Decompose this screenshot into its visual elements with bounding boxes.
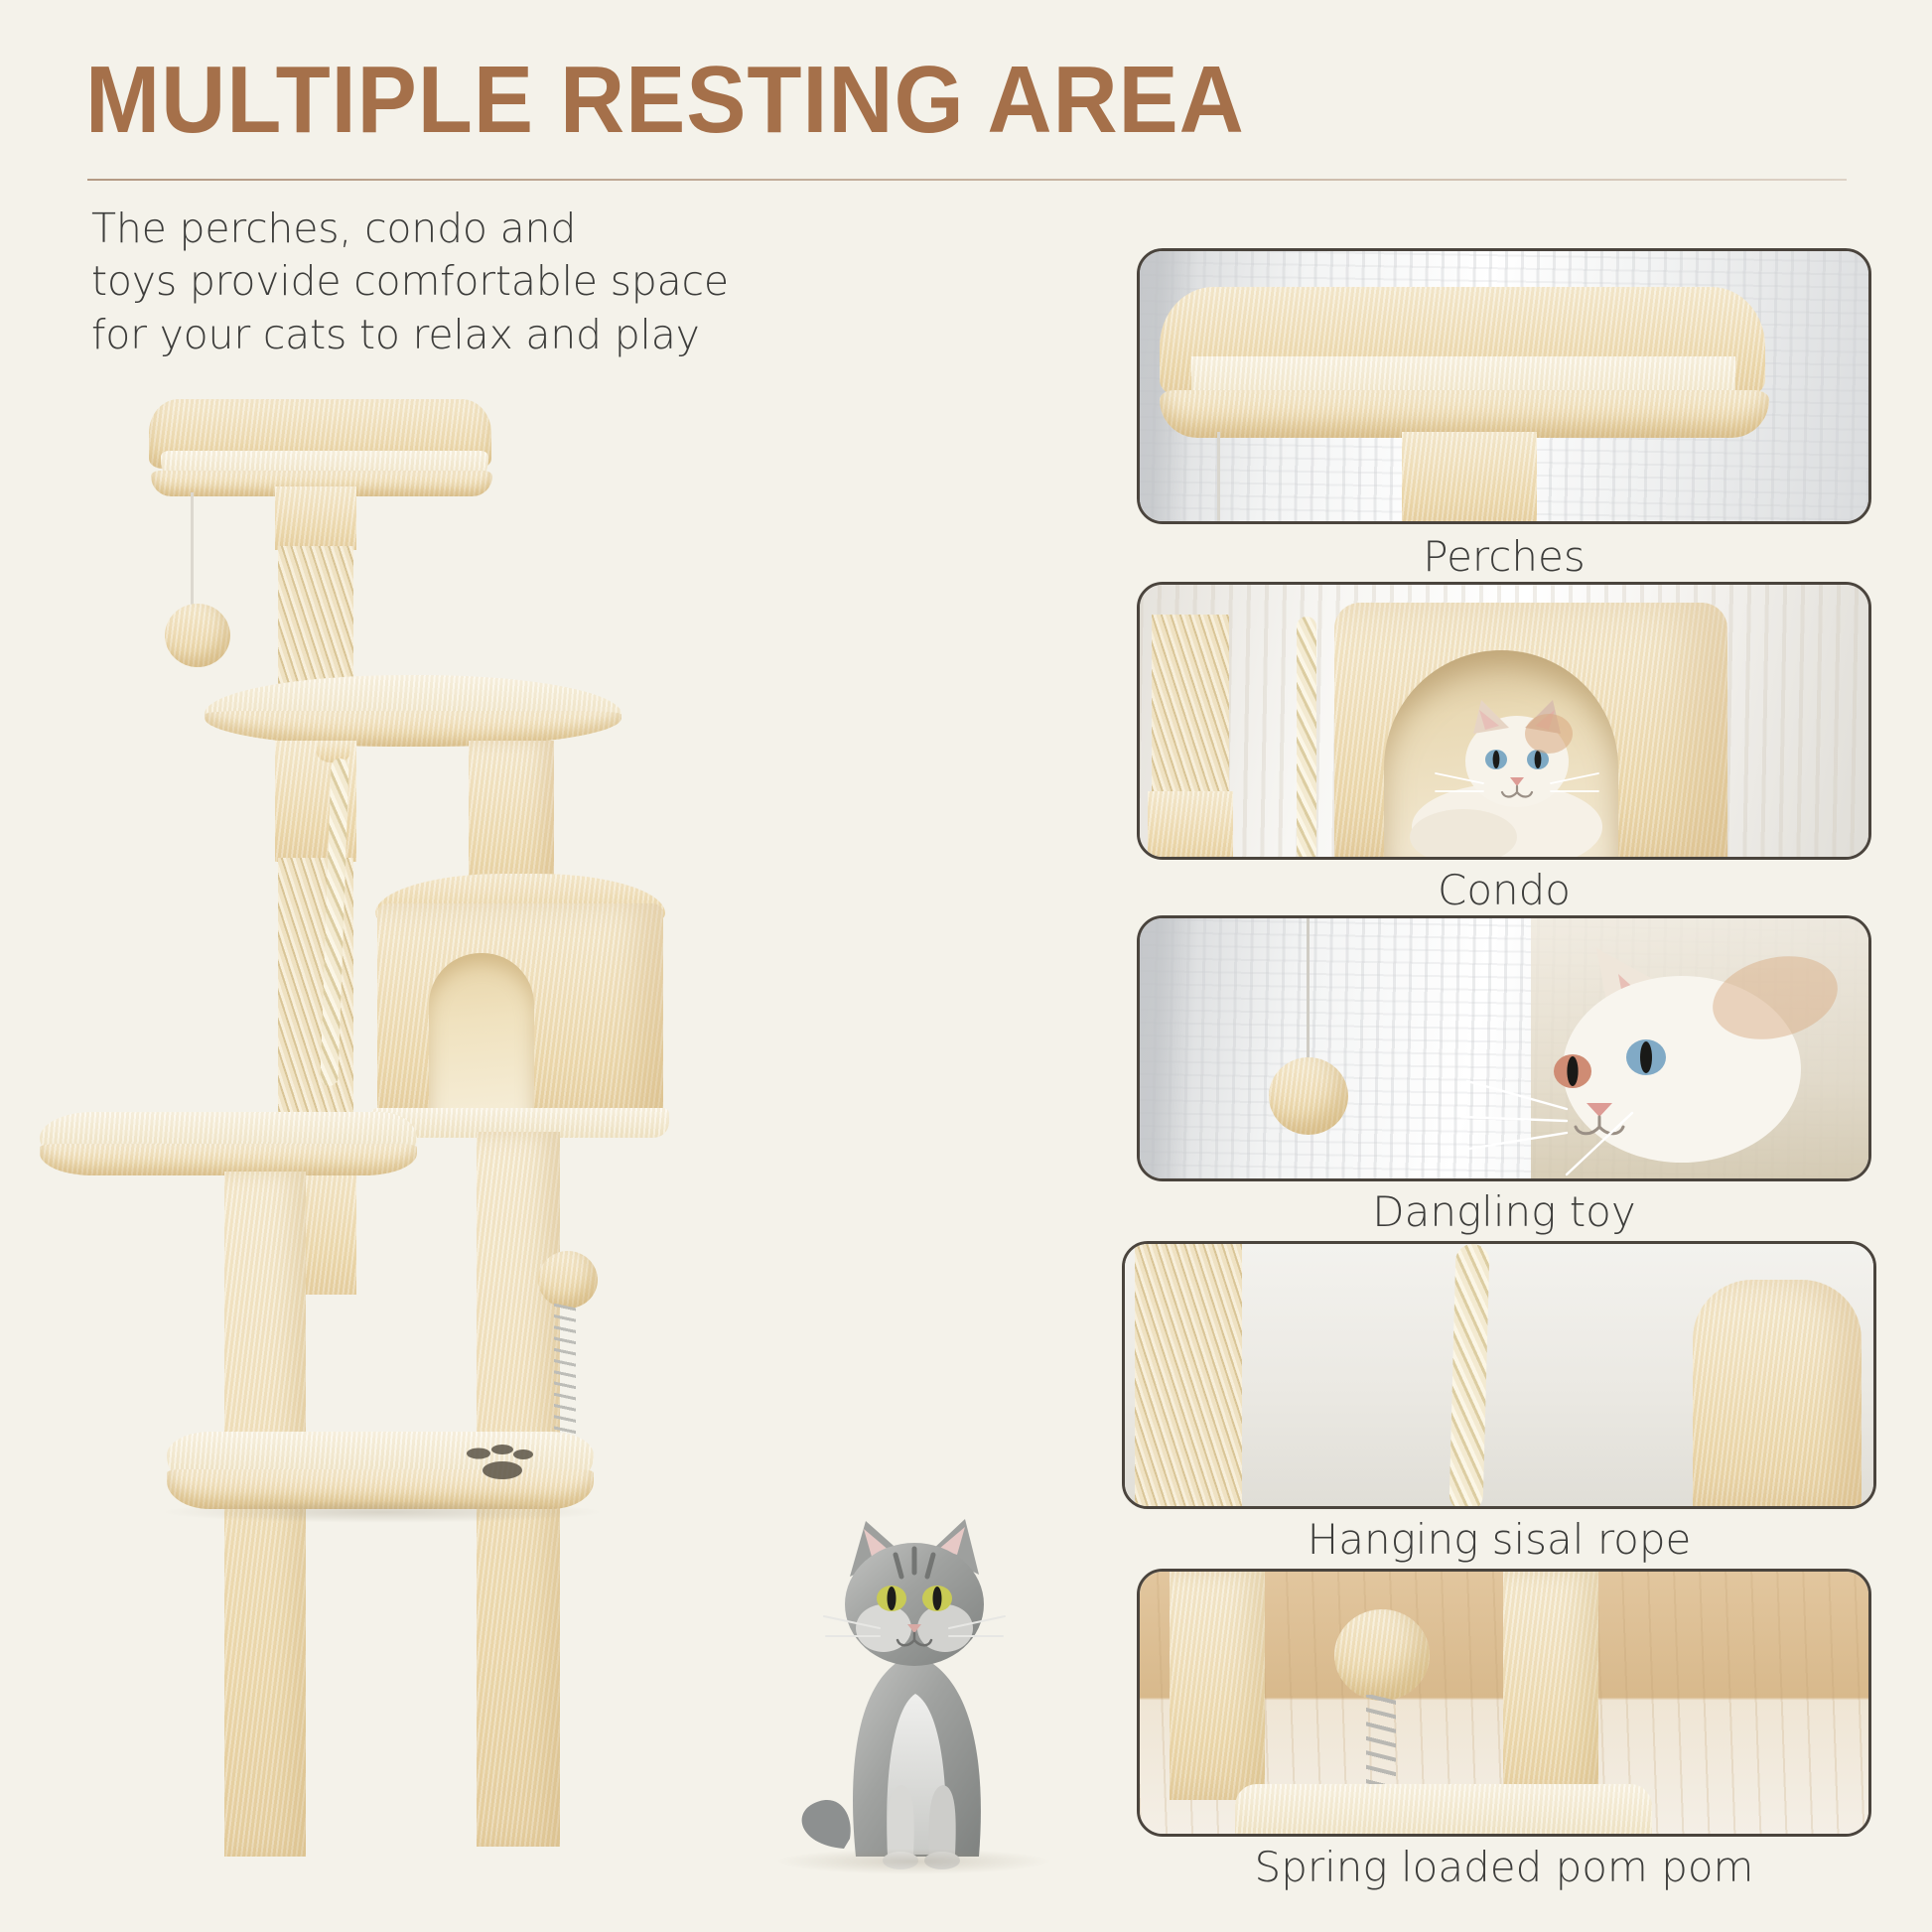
spring-panel-base-board — [1235, 1784, 1652, 1837]
dangling-pom-pom — [165, 604, 230, 667]
caption-condo: Condo — [1137, 866, 1871, 914]
spring-pom-pom — [538, 1251, 598, 1309]
perch-support-post-closeup — [1402, 432, 1537, 524]
page-title: MULTIPLE RESTING AREA — [85, 46, 1245, 155]
condo-entrance-hole — [429, 953, 534, 1124]
hanging-sisal-rope-closeup — [1449, 1244, 1489, 1509]
sisal-post-left — [1135, 1244, 1242, 1509]
paw-print-logo — [453, 1440, 542, 1487]
condo-left-post-plush — [1148, 791, 1233, 860]
cat-tree-product-photo — [40, 377, 774, 1896]
condo-left-sisal-post — [1152, 615, 1229, 803]
description-line-3: for your cats to relax and play — [91, 309, 925, 361]
feature-panel-spring-pom-pom — [1137, 1569, 1871, 1837]
plush-post-right — [1693, 1280, 1862, 1509]
product-floor-shadow — [159, 1501, 606, 1523]
spring-panel-left-post — [1170, 1572, 1265, 1800]
caption-perches: Perches — [1137, 532, 1871, 581]
perch-front-edge-closeup — [1160, 390, 1769, 438]
spring-coil — [554, 1303, 576, 1451]
dangling-toy-string — [191, 492, 194, 610]
rope-anchor-cap — [316, 741, 351, 762]
caption-hanging-sisal-rope: Hanging sisal rope — [1122, 1515, 1876, 1564]
feature-panel-perches — [1137, 248, 1871, 524]
feature-panel-hanging-sisal-rope — [1122, 1241, 1876, 1509]
dangling-toy-cat — [1448, 932, 1864, 1181]
perch-toy-string — [1217, 432, 1220, 524]
feature-panel-condo — [1137, 582, 1871, 860]
condo-cat — [1400, 688, 1610, 860]
top-post-plush-upper — [275, 486, 356, 550]
caption-dangling-toy: Dangling toy — [1137, 1187, 1871, 1236]
feature-panel-dangling-toy — [1137, 915, 1871, 1181]
page-description: The perches, condo and toys provide comf… — [91, 203, 925, 361]
middle-platform-edge — [205, 711, 621, 747]
top-post-sisal — [278, 546, 353, 695]
infographic-page: MULTIPLE RESTING AREA The perches, condo… — [0, 0, 1932, 1932]
grey-tabby-cat — [784, 1459, 1042, 1896]
spring-panel-right-post — [1503, 1572, 1598, 1800]
caption-spring-pom-pom: Spring loaded pom pom — [1137, 1843, 1871, 1891]
spring-pom-pom-closeup — [1334, 1609, 1430, 1701]
cat-floor-shadow — [774, 1849, 1052, 1874]
dangling-toy-string-closeup — [1307, 918, 1310, 1067]
dangling-pom-pom-closeup — [1269, 1057, 1348, 1135]
condo-hanging-rope — [1297, 617, 1316, 860]
header-divider — [87, 179, 1847, 181]
description-line-1: The perches, condo and — [91, 203, 925, 255]
description-line-2: toys provide comfortable space — [91, 255, 925, 308]
